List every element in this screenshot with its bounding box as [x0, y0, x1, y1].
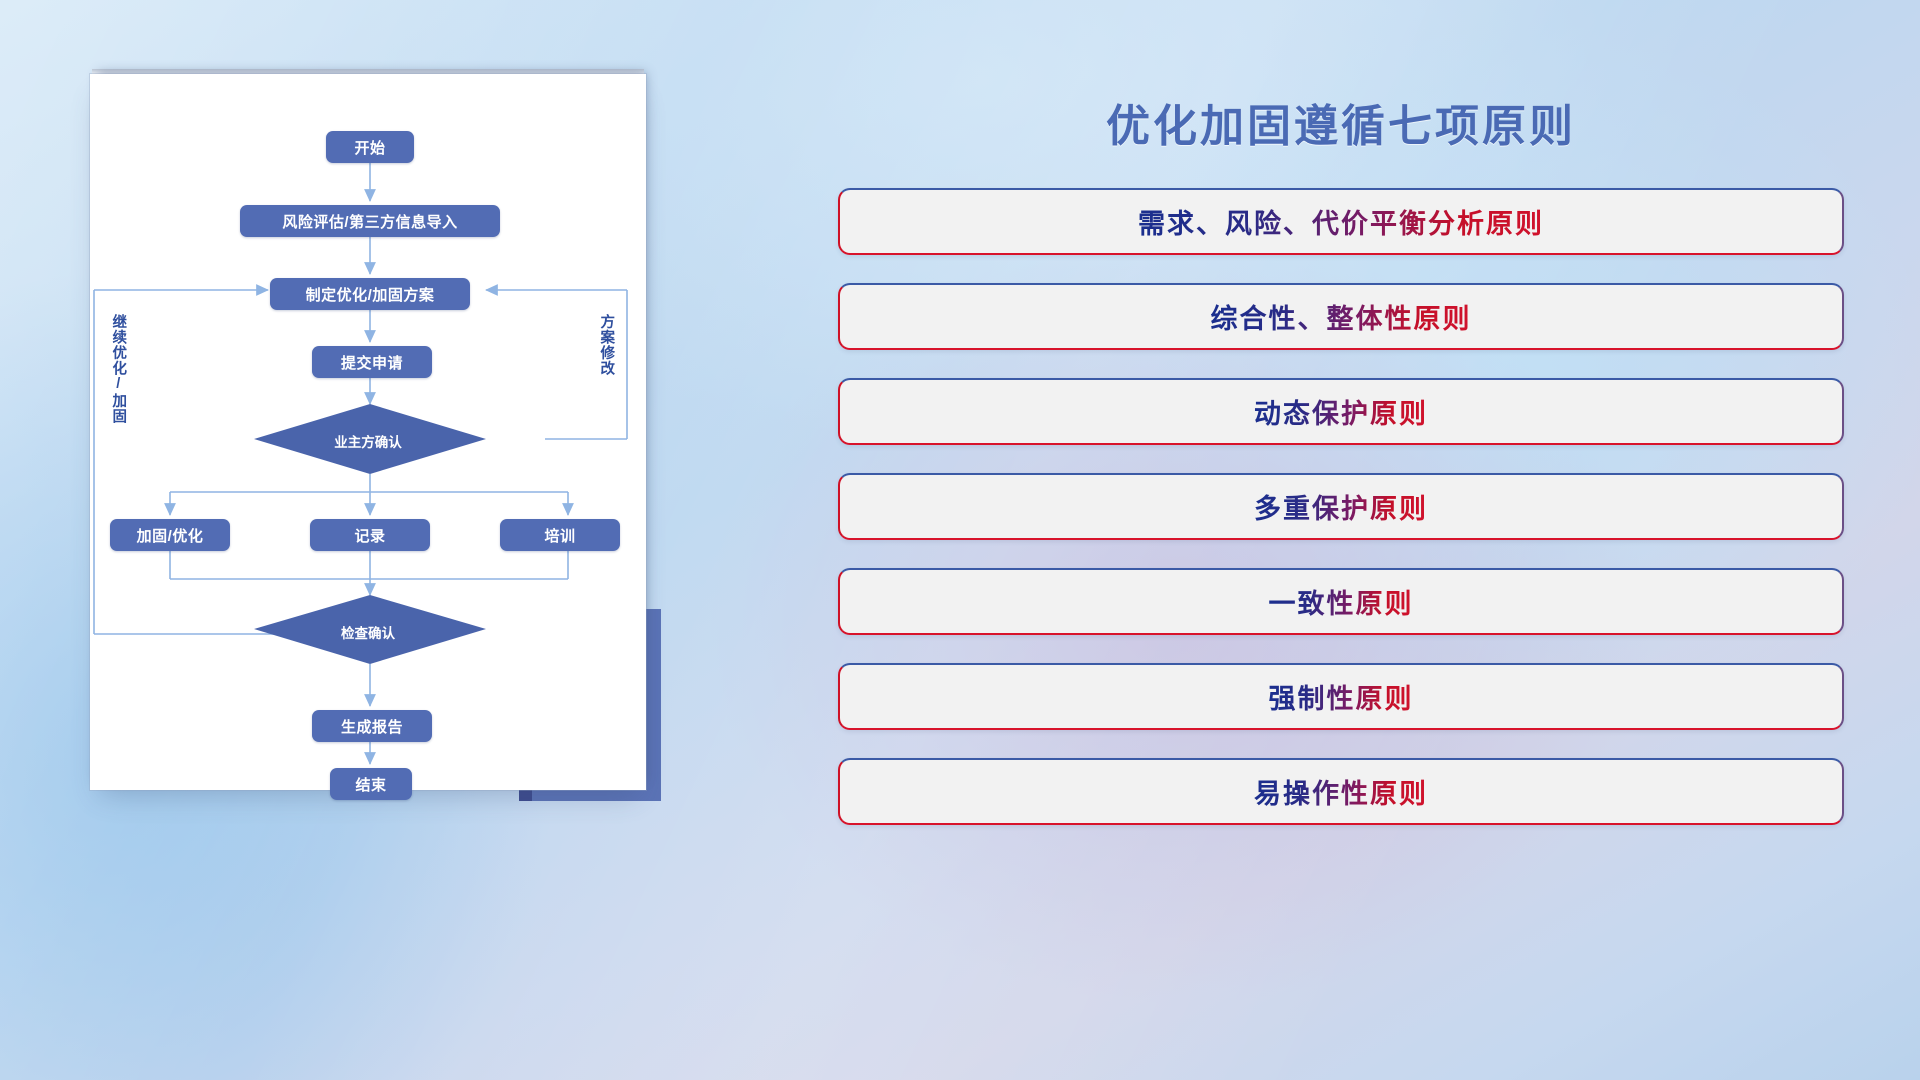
- list-item[interactable]: 易操作性原则: [838, 758, 1844, 825]
- list-item[interactable]: 多重保护原则: [838, 473, 1844, 540]
- node-owner-confirm-label: 业主方确认: [90, 431, 646, 451]
- node-start[interactable]: 开始: [326, 131, 414, 163]
- principle-label: 需求、风险、代价平衡分析原则: [1138, 202, 1544, 241]
- node-generate-report[interactable]: 生成报告: [312, 710, 432, 742]
- node-plan-label: 制定优化/加固方案: [306, 284, 435, 305]
- principles-panel: 优化加固遵循七项原则 需求、风险、代价平衡分析原则 综合性、整体性原则 动态保护…: [836, 70, 1846, 1010]
- node-reinforce-label: 加固/优化: [137, 525, 204, 546]
- node-risk-assessment[interactable]: 风险评估/第三方信息导入: [240, 205, 500, 237]
- principle-label: 一致性原则: [1269, 582, 1414, 621]
- principle-label: 多重保护原则: [1254, 487, 1428, 526]
- principle-label: 动态保护原则: [1254, 392, 1428, 431]
- list-item[interactable]: 综合性、整体性原则: [838, 283, 1844, 350]
- node-generate-report-label: 生成报告: [341, 716, 403, 737]
- node-start-label: 开始: [354, 137, 385, 158]
- node-submit-application[interactable]: 提交申请: [312, 346, 432, 378]
- principles-list: 需求、风险、代价平衡分析原则 综合性、整体性原则 动态保护原则 多重保护原则 一…: [838, 188, 1844, 853]
- principle-label: 易操作性原则: [1254, 772, 1428, 811]
- node-training[interactable]: 培训: [500, 519, 620, 551]
- node-reinforce[interactable]: 加固/优化: [110, 519, 230, 551]
- list-item[interactable]: 需求、风险、代价平衡分析原则: [838, 188, 1844, 255]
- list-item[interactable]: 强制性原则: [838, 663, 1844, 730]
- node-record[interactable]: 记录: [310, 519, 430, 551]
- node-plan[interactable]: 制定优化/加固方案: [270, 278, 470, 310]
- node-record-label: 记录: [354, 525, 385, 546]
- list-item[interactable]: 一致性原则: [838, 568, 1844, 635]
- node-end[interactable]: 结束: [330, 768, 412, 800]
- list-item[interactable]: 动态保护原则: [838, 378, 1844, 445]
- node-check-confirm-label: 检查确认: [90, 622, 646, 642]
- node-training-label: 培训: [544, 525, 575, 546]
- flowchart-diagram: 开始 风险评估/第三方信息导入 制定优化/加固方案 提交申请 业主方确认 加固/…: [90, 74, 646, 790]
- edge-label-continue-optimize: 继续优化/加固: [110, 314, 125, 424]
- principle-label: 综合性、整体性原则: [1211, 297, 1472, 336]
- node-risk-assessment-label: 风险评估/第三方信息导入: [282, 211, 457, 232]
- edge-label-plan-revision: 方案修改: [598, 314, 613, 376]
- node-end-label: 结束: [355, 774, 386, 795]
- principle-label: 强制性原则: [1269, 677, 1414, 716]
- node-submit-application-label: 提交申请: [341, 352, 403, 373]
- page-title: 优化加固遵循七项原则: [836, 90, 1846, 154]
